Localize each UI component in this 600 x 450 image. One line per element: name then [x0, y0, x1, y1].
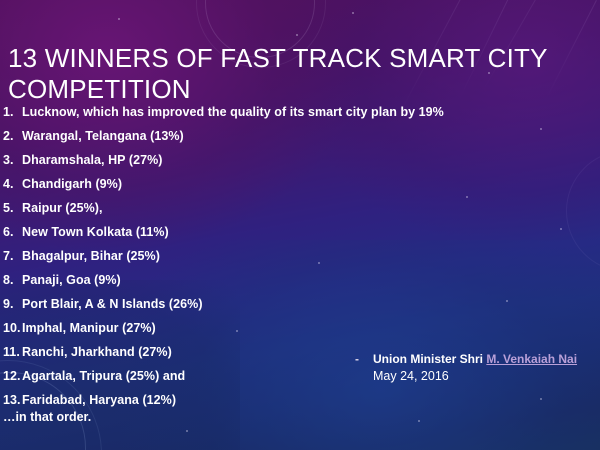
list-item-number: 12. [3, 369, 22, 383]
star-decoration [296, 34, 298, 36]
list-item-text: Dharamshala, HP (27%) [22, 153, 473, 167]
list-item-number: 7. [3, 249, 22, 263]
list-item-number: 1. [3, 105, 22, 119]
list-item-text: Port Blair, A & N Islands (26%) [22, 297, 473, 311]
list-item: 9.Port Blair, A & N Islands (26%) [3, 297, 473, 321]
attribution-row: - Union Minister Shri M. Venkaiah Nai Ma… [355, 352, 600, 383]
list-item-text: Imphal, Manipur (27%) [22, 321, 473, 335]
list-item-text: Warangal, Telangana (13%) [22, 129, 473, 143]
presentation-slide: 13 WINNERS OF FAST TRACK SMART CITY COMP… [0, 0, 600, 450]
list-item: 6.New Town Kolkata (11%) [3, 225, 473, 249]
ring-decoration-right [566, 150, 600, 272]
star-decoration [118, 18, 120, 20]
list-item-text: Raipur (25%), [22, 201, 473, 215]
list-item: 2.Warangal, Telangana (13%) [3, 129, 473, 153]
list-item: 5.Raipur (25%), [3, 201, 473, 225]
star-decoration [352, 12, 354, 14]
credit-line: Union Minister Shri M. Venkaiah Nai [373, 352, 600, 366]
list-item-text: New Town Kolkata (11%) [22, 225, 473, 239]
list-item-number: 11. [3, 345, 22, 359]
star-decoration [186, 430, 188, 432]
list-item-number: 9. [3, 297, 22, 311]
star-decoration [540, 128, 542, 130]
list-item-text: Faridabad, Haryana (12%) [22, 393, 473, 407]
attribution-date: May 24, 2016 [373, 369, 600, 383]
list-item: 10.Imphal, Manipur (27%) [3, 321, 473, 345]
list-item-number: 13. [3, 393, 22, 407]
list-item-text: Lucknow, which has improved the quality … [22, 105, 473, 119]
list-item-number: 3. [3, 153, 22, 167]
dash-bullet-icon: - [355, 352, 373, 366]
list-item: 7.Bhagalpur, Bihar (25%) [3, 249, 473, 273]
list-item-text: Chandigarh (9%) [22, 177, 473, 191]
list-item: 3.Dharamshala, HP (27%) [3, 153, 473, 177]
closing-text: …in that order. [3, 410, 91, 424]
list-item: 1.Lucknow, which has improved the qualit… [3, 105, 473, 129]
credit-prefix: Union Minister Shri [373, 352, 486, 366]
list-item-text: Panaji, Goa (9%) [22, 273, 473, 287]
list-item: 8.Panaji, Goa (9%) [3, 273, 473, 297]
attribution-block: - Union Minister Shri M. Venkaiah Nai Ma… [355, 352, 600, 383]
star-decoration [506, 300, 508, 302]
list-item-number: 2. [3, 129, 22, 143]
star-decoration [540, 398, 542, 400]
star-decoration [560, 228, 562, 230]
attribution-body: Union Minister Shri M. Venkaiah Nai May … [373, 352, 600, 383]
list-item-number: 10. [3, 321, 22, 335]
list-item-number: 5. [3, 201, 22, 215]
list-item-number: 8. [3, 273, 22, 287]
list-item-text: Bhagalpur, Bihar (25%) [22, 249, 473, 263]
star-decoration [418, 420, 420, 422]
list-item-number: 6. [3, 225, 22, 239]
slide-title: 13 WINNERS OF FAST TRACK SMART CITY COMP… [8, 43, 568, 105]
list-item: 4.Chandigarh (9%) [3, 177, 473, 201]
minister-name-link[interactable]: M. Venkaiah Nai [486, 352, 577, 366]
list-item-number: 4. [3, 177, 22, 191]
